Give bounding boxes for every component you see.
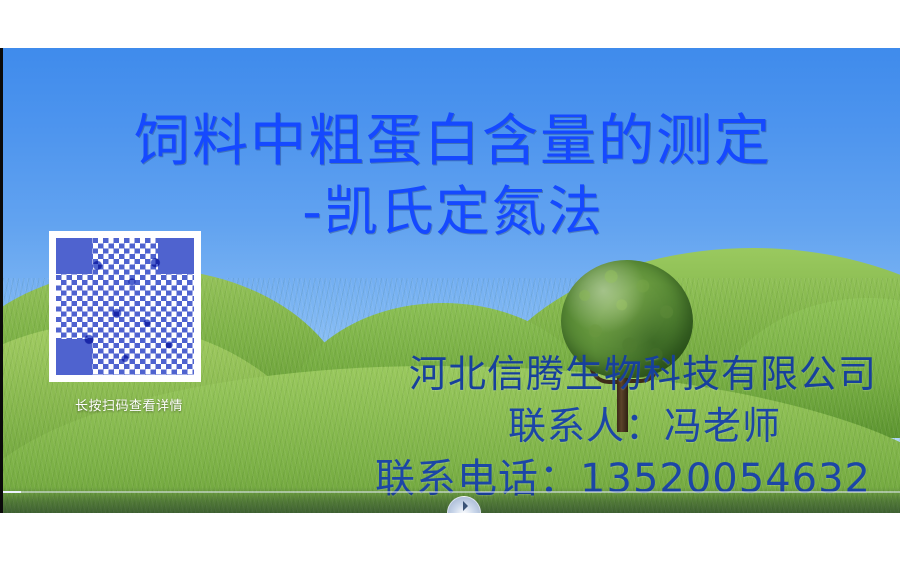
qr-matrix — [56, 238, 194, 375]
play-glyph — [463, 501, 468, 511]
screenshot-root: 饲料中粗蛋白含量的测定 -凯氏定氮法 长按扫码查看详情 河北信腾生物科技有限公司… — [0, 0, 900, 561]
player-progress-fill — [3, 491, 21, 493]
tree-canopy — [561, 260, 693, 378]
letterbox-top — [0, 0, 900, 48]
qr-code-icon[interactable] — [49, 231, 201, 382]
player-progress-scrubber[interactable] — [3, 491, 900, 493]
qr-caption-label: 长按扫码查看详情 — [49, 398, 209, 416]
video-player-stage[interactable]: 饲料中粗蛋白含量的测定 -凯氏定氮法 长按扫码查看详情 河北信腾生物科技有限公司… — [0, 48, 900, 513]
letterbox-bottom — [0, 513, 900, 561]
tree-icon — [555, 260, 705, 430]
